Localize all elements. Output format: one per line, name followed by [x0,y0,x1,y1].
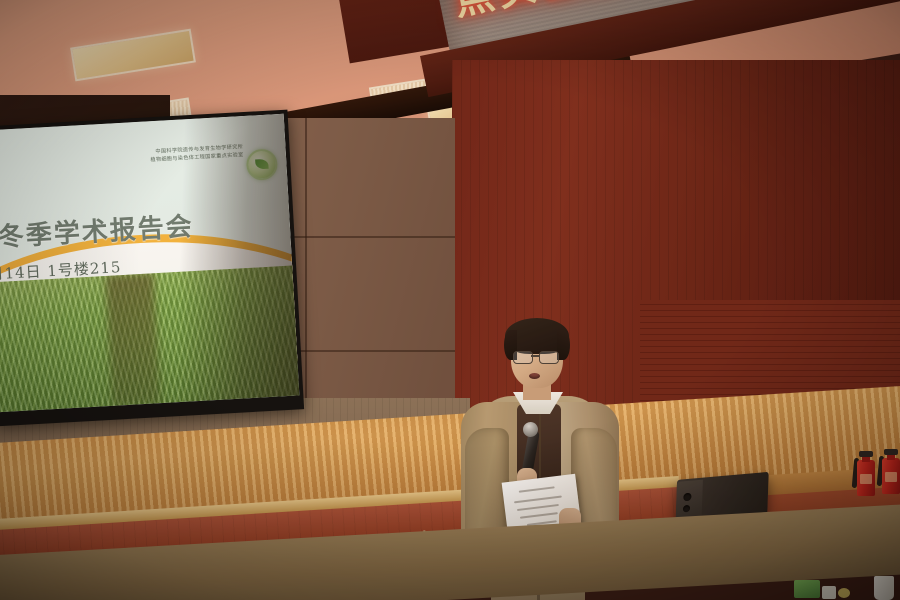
extinguisher-head [884,449,898,455]
green-box-item [794,580,820,598]
screen-surface: 中国科学院遗传与发育生物学研究所 植物细胞与染色体工程国家重点实验室 年冬季学术… [0,114,299,412]
fire-extinguisher-1 [857,448,875,496]
paper-text-line [517,504,559,511]
fire-extinguisher-2 [882,446,900,494]
paper-text-line [520,512,558,518]
white-small-item [822,586,836,599]
eyeglasses-left-lens [513,351,533,364]
projection-screen: 中国科学院遗传与发育生物学研究所 植物细胞与染色体工程国家重点实验室 年冬季学术… [0,110,304,427]
lecture-hall-photo: 点实验室2015年冬季青年学 中国科学院遗传与发育生物学研究所 植物细胞与染色体… [0,0,900,600]
screen-shadow-overlay [0,114,299,412]
yellow-item [838,588,850,598]
extinguisher-label [885,472,897,482]
extinguisher-label [860,474,872,484]
paper-text-line [519,486,555,492]
eyeglasses-right-lens [539,351,559,364]
paper-cup [874,576,894,600]
eyeglasses-bridge [531,355,539,357]
speaker-mouth [529,373,540,379]
extinguisher-head [859,451,873,457]
paper-text-line [514,496,562,503]
